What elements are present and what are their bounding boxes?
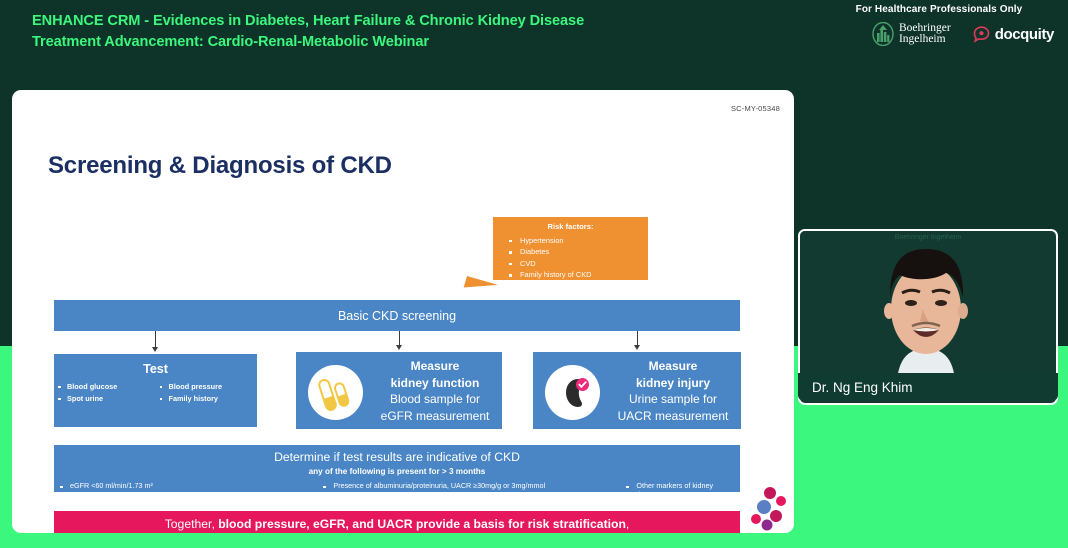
measure-kidney-injury-text: Measure kidney injury Urine sample for U… (611, 358, 735, 424)
connector-arrow-right (634, 345, 640, 350)
boehringer-ingelheim-logo: Boehringer Ingelheim (872, 22, 951, 46)
docquity-logo: docquity (973, 26, 1054, 43)
together-summary-band: Together, blood pressure, eGFR, and UACR… (54, 511, 740, 533)
together-line-1: Together, blood pressure, eGFR, and UACR… (54, 515, 740, 533)
connector-arrow-middle (396, 345, 402, 350)
list-item: eGFR <60 ml/min/1.73 m² (54, 481, 317, 499)
determine-band: Determine if test results are indicative… (54, 445, 740, 492)
presentation-slide[interactable]: SC-MY-05348 Screening & Diagnosis of CKD… (12, 90, 794, 533)
docquity-speech-bubble-icon (973, 26, 990, 43)
video-watermark-label: Boehringer Ingelheim (895, 234, 962, 241)
measure-kidney-function-box: Measure kidney function Blood sample for… (296, 352, 502, 429)
slide-title: Screening & Diagnosis of CKD (48, 152, 392, 180)
list-item: Other markers of kidney damage (620, 481, 740, 499)
determine-subheading: any of the following is present for > 3 … (54, 467, 740, 476)
list-item: Diabetes (509, 246, 648, 258)
test-column-2: Blood pressure Family history (156, 381, 258, 405)
list-item: Spot urine (54, 393, 156, 405)
measure-kidney-injury-box: Measure kidney injury Urine sample for U… (533, 352, 741, 429)
boehringer-mark-icon (872, 22, 894, 46)
hcp-only-note: For Healthcare Professionals Only (824, 4, 1054, 15)
test-box-title: Test (54, 354, 257, 376)
speaker-name-bar: Dr. Ng Eng Khim (798, 373, 1058, 401)
docquity-wordmark: docquity (995, 26, 1054, 43)
webinar-title-line2: Treatment Advancement: Cardio-Renal-Meta… (32, 32, 752, 53)
test-box: Test Blood glucose Spot urine Blood pres… (54, 354, 257, 427)
list-item: Presence of albuminuria/proteinuria, UAC… (317, 481, 620, 499)
basic-ckd-screening-bar: Basic CKD screening (54, 300, 740, 331)
kidney-icon (545, 365, 600, 420)
risk-factors-list: Hypertension Diabetes CVD Family history… (493, 235, 648, 281)
risk-factors-title: Risk factors: (493, 217, 648, 233)
webinar-title: ENHANCE CRM - Evidences in Diabetes, Hea… (32, 11, 752, 53)
determine-bullets: eGFR <60 ml/min/1.73 m² Presence of albu… (54, 481, 740, 499)
brand-block: For Healthcare Professionals Only Boehri… (824, 4, 1054, 46)
list-item: Hypertension (509, 235, 648, 247)
logo-row: Boehringer Ingelheim docquity (824, 22, 1054, 46)
list-item: Family history (156, 393, 258, 405)
test-box-columns: Blood glucose Spot urine Blood pressure … (54, 381, 257, 405)
test-column-1: Blood glucose Spot urine (54, 381, 156, 405)
list-item: Family history of CKD (509, 269, 648, 281)
list-item: Blood pressure (156, 381, 258, 393)
risk-factors-callout: Risk factors: Hypertension Diabetes CVD … (493, 217, 648, 280)
determine-heading: Determine if test results are indicative… (54, 445, 740, 464)
list-item: Blood glucose (54, 381, 156, 393)
decorative-dots-graphic (734, 485, 788, 531)
list-item: CVD (509, 258, 648, 270)
webinar-title-line1: ENHANCE CRM - Evidences in Diabetes, Hea… (32, 11, 752, 32)
test-tubes-icon (308, 365, 363, 420)
speaker-name: Dr. Ng Eng Khim (798, 380, 913, 395)
boehringer-wordmark: Boehringer Ingelheim (899, 23, 951, 46)
measure-kidney-function-text: Measure kidney function Blood sample for… (374, 358, 496, 424)
slide-code: SC-MY-05348 (731, 104, 780, 113)
connector-arrow-left (152, 347, 158, 352)
